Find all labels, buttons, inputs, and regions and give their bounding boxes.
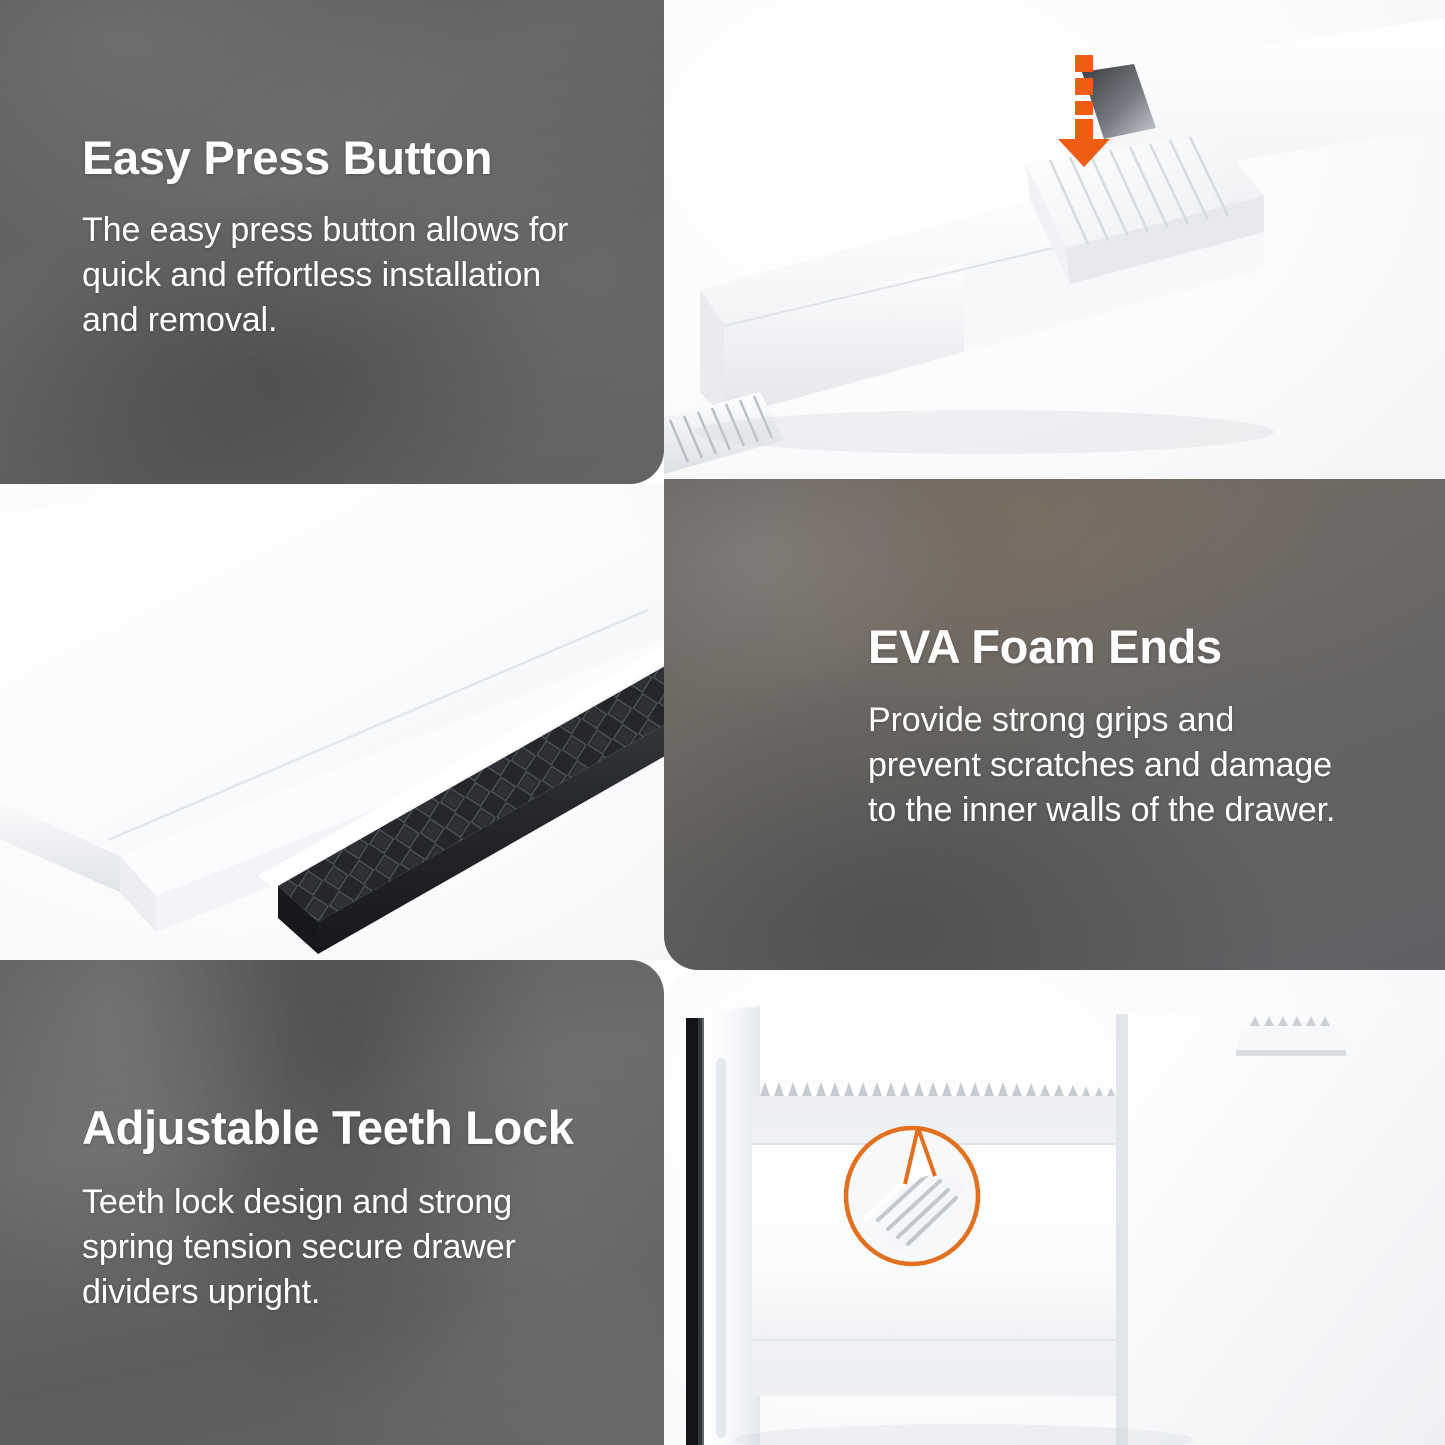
- panel-title-adjustable-teeth-lock: Adjustable Teeth Lock: [82, 1103, 682, 1152]
- body-line: Provide strong grips and: [868, 698, 1413, 743]
- body-line: quick and effortless installation: [82, 253, 652, 298]
- panel-body-eva-foam-ends: Provide strong grips and prevent scratch…: [868, 698, 1413, 833]
- panel-teeth-lock-photo: [664, 970, 1445, 1445]
- panel-press-button-photo: [664, 0, 1445, 479]
- feature-infographic: Easy Press Button The easy press button …: [0, 0, 1445, 1445]
- body-line: and removal.: [82, 298, 652, 343]
- teeth-lock-product-image: [664, 970, 1445, 1445]
- body-line: prevent scratches and damage: [868, 743, 1413, 788]
- panel-title-eva-foam-ends: EVA Foam Ends: [868, 622, 1428, 671]
- magnifier-callout-icon: [834, 1070, 1014, 1270]
- body-line: to the inner walls of the drawer.: [868, 788, 1413, 833]
- body-line: The easy press button allows for: [82, 208, 652, 253]
- panel-title-easy-press-button: Easy Press Button: [82, 133, 642, 182]
- body-line: spring tension secure drawer: [82, 1225, 642, 1270]
- body-line: dividers upright.: [82, 1270, 642, 1315]
- panel-body-adjustable-teeth-lock: Teeth lock design and strong spring tens…: [82, 1180, 642, 1315]
- down-arrow-icon: [1054, 55, 1114, 167]
- panel-body-easy-press-button: The easy press button allows for quick a…: [82, 208, 652, 343]
- body-line: Teeth lock design and strong: [82, 1180, 642, 1225]
